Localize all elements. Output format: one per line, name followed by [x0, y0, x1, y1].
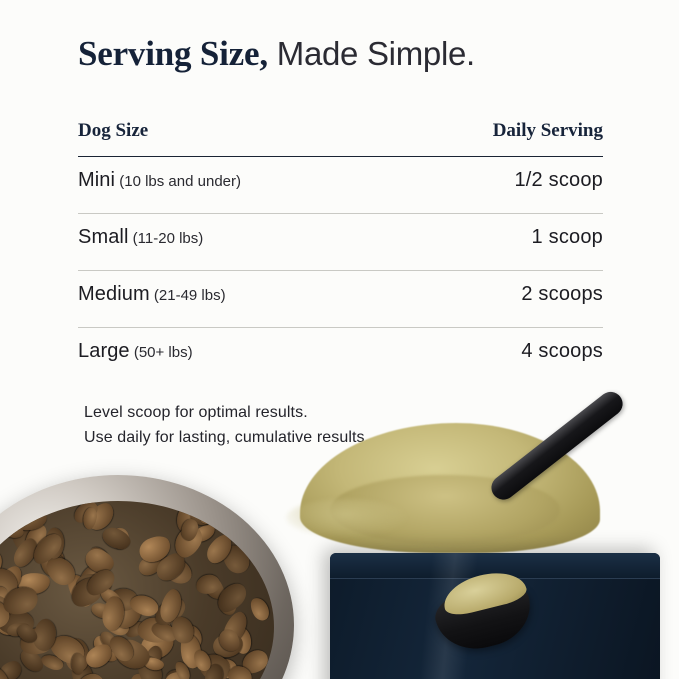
- size-name: Medium: [78, 283, 150, 305]
- serving-size-table: Dog Size Daily Serving Mini (10 lbs and …: [78, 118, 603, 384]
- row-size-cell: Small (11-20 lbs): [78, 226, 203, 249]
- table-row: Large (50+ lbs) 4 scoops: [78, 328, 603, 384]
- size-name: Mini: [78, 169, 115, 191]
- row-serving-cell: 4 scoops: [521, 340, 603, 363]
- row-serving-cell: 1/2 scoop: [514, 169, 603, 192]
- size-qualifier: (10 lbs and under): [115, 173, 241, 190]
- table-row: Small (11-20 lbs) 1 scoop: [78, 214, 603, 270]
- row-size-cell: Large (50+ lbs): [78, 340, 193, 363]
- size-qualifier: (21-49 lbs): [150, 287, 226, 304]
- kibble-piece: [100, 525, 134, 554]
- bowl-interior: [0, 501, 274, 679]
- table-row: Mini (10 lbs and under) 1/2 scoop: [78, 157, 603, 213]
- row-serving-cell: 1 scoop: [532, 226, 603, 249]
- size-name: Small: [78, 226, 129, 248]
- page-title: Serving Size, Made Simple.: [78, 34, 475, 74]
- size-qualifier: (50+ lbs): [130, 344, 193, 361]
- dog-bowl: [0, 475, 294, 679]
- serving-size-infographic: Serving Size, Made Simple. Dog Size Dail…: [0, 0, 679, 679]
- row-serving-cell: 2 scoops: [521, 283, 603, 306]
- product-photo: Arterra: [0, 379, 679, 679]
- page-title-bold: Serving Size,: [78, 34, 268, 73]
- column-header-dog-size: Dog Size: [78, 120, 148, 142]
- table-row: Medium (21-49 lbs) 2 scoops: [78, 271, 603, 327]
- kibble-piece: [248, 594, 274, 623]
- size-qualifier: (11-20 lbs): [129, 230, 204, 247]
- row-size-cell: Mini (10 lbs and under): [78, 169, 241, 192]
- row-size-cell: Medium (21-49 lbs): [78, 283, 226, 306]
- page-title-light: Made Simple.: [268, 35, 475, 72]
- kibble-piece: [0, 638, 1, 670]
- size-name: Large: [78, 340, 130, 362]
- table-header-row: Dog Size Daily Serving: [78, 118, 603, 156]
- powder-spill: [286, 499, 406, 537]
- column-header-daily-serving: Daily Serving: [493, 120, 603, 142]
- kibble-piece: [231, 501, 255, 521]
